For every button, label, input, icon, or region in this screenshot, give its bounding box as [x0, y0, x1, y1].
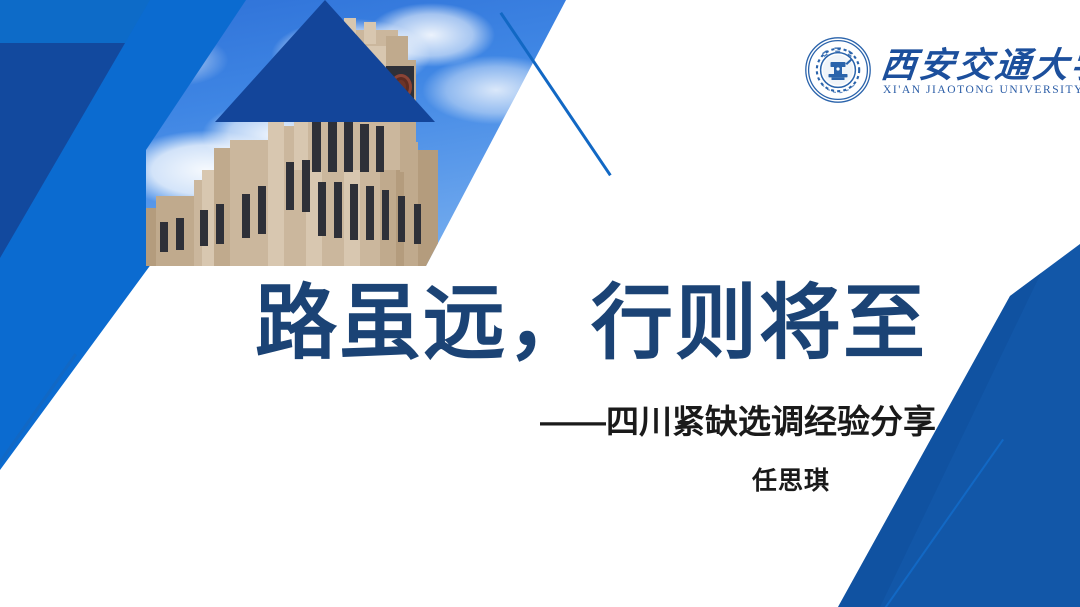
page-subtitle: ——四川紧缺选调经验分享	[540, 405, 970, 438]
decor-accent-line-top-right	[500, 12, 612, 176]
logo-english-name: XI'AN JIAOTONG UNIVERSITY	[881, 85, 1080, 97]
title-slide: 西安交通大学 XI'AN JIAOTONG UNIVERSITY 路虽远，行则将…	[0, 0, 1080, 607]
logo-chinese-name: 西安交通大学	[879, 48, 1080, 84]
university-logo: 西安交通大学 XI'AN JIAOTONG UNIVERSITY	[804, 33, 1052, 111]
page-title: 路虽远，行则将至	[255, 283, 935, 365]
author-name: 任思琪	[752, 469, 830, 494]
university-seal-icon	[804, 36, 872, 109]
